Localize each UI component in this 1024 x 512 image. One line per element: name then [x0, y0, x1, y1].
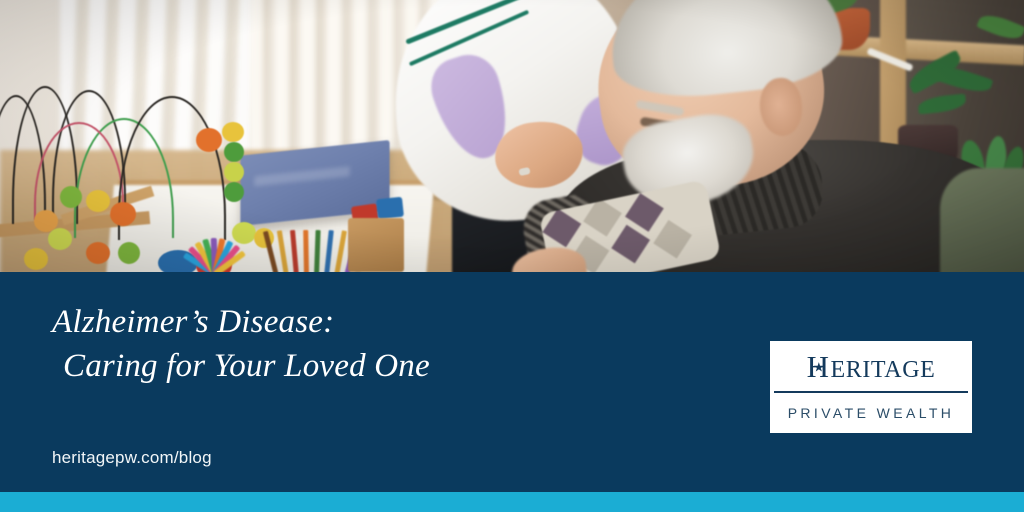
- star-icon: ★: [813, 361, 824, 372]
- logo-subtitle-row: PRIVATE WEALTH: [770, 393, 972, 433]
- logo-wordmark: H ★ ERITAGE: [807, 351, 936, 382]
- photo-vignette: [0, 0, 1024, 272]
- page-title: Alzheimer’s Disease:Caring for Your Love…: [52, 300, 672, 388]
- heritage-private-wealth-logo[interactable]: H ★ ERITAGE PRIVATE WEALTH: [770, 341, 972, 433]
- navy-caption-band: Alzheimer’s Disease:Caring for Your Love…: [0, 272, 1024, 492]
- teal-accent-stripe: [0, 492, 1024, 512]
- logo-letter-h: H ★: [807, 351, 831, 382]
- blog-banner-graphic: Alzheimer’s Disease:Caring for Your Love…: [0, 0, 1024, 512]
- headline-line-1: Alzheimer’s Disease:: [52, 304, 334, 340]
- website-url[interactable]: heritagepw.com/blog: [52, 448, 212, 468]
- headline-line-2: Caring for Your Loved One: [52, 344, 672, 388]
- logo-wordmark-row: H ★ ERITAGE: [770, 341, 972, 391]
- hero-photo: [0, 0, 1024, 272]
- logo-subtitle: PRIVATE WEALTH: [788, 405, 955, 421]
- logo-wordmark-rest: ERITAGE: [830, 358, 935, 382]
